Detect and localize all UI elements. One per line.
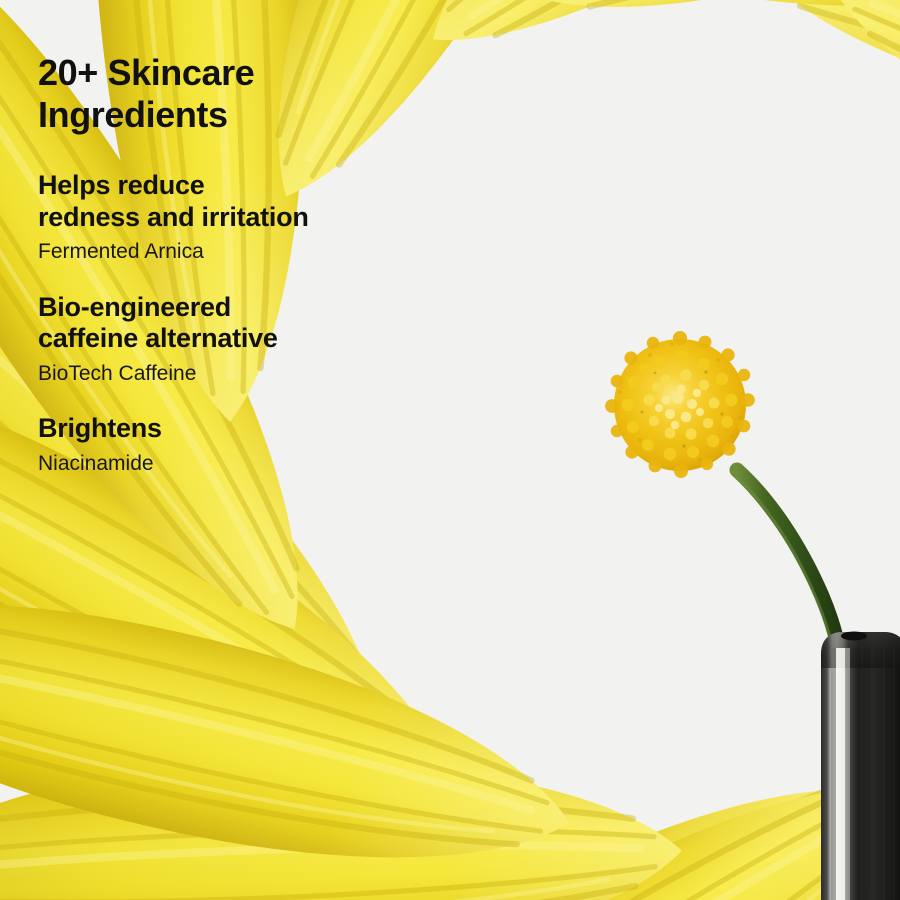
flower-stem xyxy=(734,470,840,660)
benefit-ingredient: BioTech Caffeine xyxy=(38,361,408,387)
benefit-ingredient: Fermented Arnica xyxy=(38,239,408,265)
benefit-title: Helps reduce redness and irritation xyxy=(38,170,408,233)
page-title: 20+ Skincare Ingredients xyxy=(38,52,408,136)
product-benefits-card: 20+ Skincare Ingredients Helps reduce re… xyxy=(0,0,900,900)
benefits-copy-block: 20+ Skincare Ingredients Helps reduce re… xyxy=(38,52,408,477)
benefit-item: Helps reduce redness and irritation Ferm… xyxy=(38,170,408,265)
flower-center-disc xyxy=(605,331,755,478)
benefit-item: Bio-engineered caffeine alternative BioT… xyxy=(38,292,408,387)
benefit-title: Brightens xyxy=(38,413,408,445)
benefit-title: Bio-engineered caffeine alternative xyxy=(38,292,408,355)
benefit-ingredient: Niacinamide xyxy=(38,451,408,477)
benefit-item: Brightens Niacinamide xyxy=(38,413,408,477)
black-vase xyxy=(821,632,900,900)
